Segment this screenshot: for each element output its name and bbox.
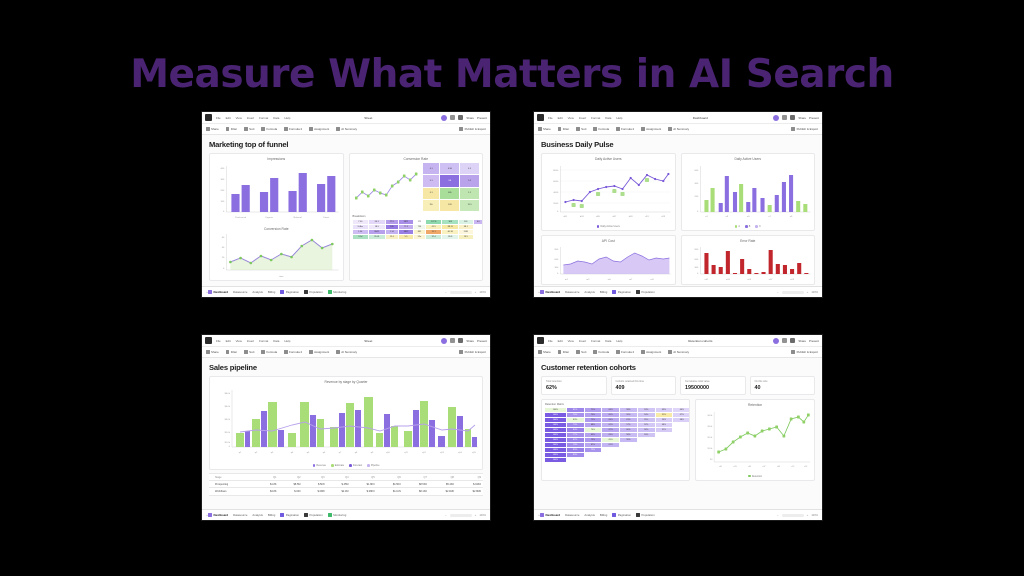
formula-icon — [593, 127, 597, 131]
table-row[interactable]: 4.1 0.30 4.5 — [422, 163, 479, 175]
card-error-rate[interactable]: Error Rate 900 600 300 0 — [681, 235, 816, 285]
assignment-icon — [309, 350, 313, 354]
menu-item-help[interactable]: Help — [616, 116, 622, 120]
tab-monitoring[interactable]: Monitoring — [328, 513, 347, 517]
avatar[interactable] — [441, 115, 447, 121]
tab-datasource[interactable]: Datasource — [233, 290, 247, 294]
cell: Prospecting — [209, 481, 255, 488]
menu-item-help[interactable]: Help — [284, 116, 290, 120]
cohort-cell — [566, 457, 584, 462]
col-q9: Q9 — [456, 474, 483, 481]
svg-text:600: 600 — [555, 259, 560, 261]
menu-item-view[interactable]: View — [568, 116, 574, 120]
filter-icon — [558, 350, 562, 354]
window-business-daily-pulse[interactable]: File Edit View Insert Format Data Help D… — [534, 112, 822, 297]
present-button[interactable]: Present — [477, 116, 487, 120]
menu-item-view[interactable]: View — [236, 116, 242, 120]
cell: Workflows — [209, 488, 255, 495]
ribbon-toolbar[interactable]: Share Filter Sort Formula Formula 2 Assi… — [534, 124, 822, 135]
cohort-cell — [620, 457, 638, 462]
legend-item[interactable]: Revenue — [313, 464, 326, 467]
presenter-icon[interactable] — [458, 115, 463, 120]
ribbon-filter[interactable]: Filter — [558, 350, 569, 354]
dashboard-icon — [208, 513, 212, 517]
tab-analysis-label: Analysis — [252, 290, 262, 294]
sparkle-icon — [336, 350, 340, 354]
svg-text:d01: d01 — [564, 216, 569, 218]
ribbon-formula-2[interactable]: Formula 2 — [616, 350, 634, 354]
heat-cell: 4.1 — [422, 163, 440, 175]
present-button[interactable]: Present — [809, 339, 819, 343]
ribbon-share-label: Share — [543, 350, 551, 354]
tab-monitoring[interactable]: Monitoring — [328, 290, 347, 294]
menu-bar[interactable]: File Edit View Insert Format Data Help D… — [534, 112, 822, 124]
tab-population[interactable]: Population — [636, 290, 655, 294]
table-row[interactable]: Workflows $4.8K $.000 $.0M8 $2.4M $.08K0… — [209, 488, 483, 495]
menu-item-insert[interactable]: Insert — [579, 339, 586, 343]
menu-item-help[interactable]: Help — [616, 339, 622, 343]
share-icon[interactable] — [450, 115, 455, 120]
share-icon[interactable] — [450, 338, 455, 343]
avatar[interactable] — [441, 338, 447, 344]
menu-bar-right[interactable]: Share Present — [773, 115, 819, 121]
menu-item-format[interactable]: Format — [259, 116, 268, 120]
tab-pagination[interactable]: Pagination — [280, 290, 299, 294]
zoom-in-icon[interactable]: + — [807, 513, 809, 517]
heat-cell: 5.5 — [460, 175, 480, 187]
svg-text:a1: a1 — [705, 216, 708, 218]
menu-item-data[interactable]: Data — [273, 339, 279, 343]
tab-billing[interactable]: Billing — [600, 513, 607, 517]
menu-item-edit[interactable]: Edit — [558, 116, 563, 120]
cohort-row: Retention Matrix 100%81%71%64%58%53%49%4… — [534, 399, 822, 481]
publish-export-button[interactable]: Publish & Export — [791, 350, 818, 354]
sheet-canvas: Sales pipeline Revenue by stage by Quart… — [202, 358, 490, 520]
ribbon-share[interactable]: Share — [206, 350, 219, 354]
filter-icon — [226, 127, 230, 131]
chart-revenue-combo[interactable]: $6.0k $4.0k $3.0k $2.0k $1.0k 0 — [210, 385, 482, 463]
zoom-out-icon[interactable]: − — [777, 513, 779, 517]
svg-text:600: 600 — [694, 259, 699, 261]
chart-impressions[interactable]: 400 300 200 100 0 Paid social — [210, 162, 343, 224]
ribbon-formula[interactable]: Formula — [261, 127, 277, 131]
ribbon-ai-summary[interactable]: AI Summary — [668, 350, 689, 354]
zoom-slider[interactable] — [450, 291, 472, 294]
formula-2-icon — [616, 127, 620, 131]
tab-pagination[interactable]: Pagination — [612, 513, 631, 517]
heat-cell: 9.1 — [422, 175, 440, 187]
svg-text:c03: c03 — [734, 465, 738, 467]
legend-item[interactable]: Estimate — [331, 464, 344, 467]
menu-bar-right[interactable]: Share Present — [773, 338, 819, 344]
ribbon-assignment[interactable]: Assignment — [641, 350, 661, 354]
menu-bar-right[interactable]: Share Present — [441, 338, 487, 344]
ribbon-formula-label: Formula — [598, 127, 609, 131]
status-bar-right[interactable]: − + 100% — [445, 290, 486, 294]
cell: $.08K0 — [350, 488, 376, 495]
avatar[interactable] — [773, 115, 779, 121]
legend-label: Retention — [752, 475, 762, 478]
publish-export-button[interactable]: Publish & Export — [791, 127, 818, 131]
col-q7: Q7 — [403, 474, 429, 481]
tab-dashboard[interactable]: Dashboard — [208, 513, 228, 517]
svg-text:q4: q4 — [291, 452, 294, 454]
tab-pagination[interactable]: Pagination — [280, 513, 299, 517]
table-cohort-heatmap[interactable]: 100%81%71%64%58%53%49%46%100%76%70%65%59… — [544, 407, 690, 463]
tab-analysis[interactable]: Analysis — [252, 513, 262, 517]
table-row[interactable]: Prospecting $1.8K $8.5M $.5K8 $.45M $1.8… — [209, 481, 483, 488]
population-icon — [304, 290, 308, 294]
tab-billing-label: Billing — [600, 290, 607, 294]
chart-conversion-mini[interactable]: 60 40 20 0 time — [210, 232, 343, 280]
col-q4: Q4 — [326, 474, 350, 481]
present-button[interactable]: Present — [477, 339, 487, 343]
ribbon-toolbar[interactable]: Share Filter Sort Formula Formula 2 Assi… — [202, 347, 490, 358]
svg-text:m9: m9 — [651, 279, 655, 281]
col-q1: Q1 — [255, 474, 278, 481]
menu-item-format[interactable]: Format — [591, 116, 600, 120]
svg-text:m3: m3 — [586, 279, 590, 281]
table-pipeline-summary[interactable]: Stage Q1 Q2 Q3 Q4 Q5 Q6 Q7 Q8 Q9 — [209, 473, 483, 496]
table-breakdown-heatmap[interactable]: 7.00 50.1 27.5 3871 171 127.8 308 101 6.… — [352, 219, 484, 240]
pagination-icon — [612, 290, 616, 294]
ribbon-share-label: Share — [211, 350, 219, 354]
card-title-conversion-rate: Conversion Rate — [350, 154, 483, 162]
window-customer-retention-cohorts[interactable]: File Edit View Insert Format Data Help R… — [534, 335, 822, 520]
ribbon-formula-2-label: Formula 2 — [621, 350, 634, 354]
menu-item-help[interactable]: Help — [284, 339, 290, 343]
card-daily-active-users-line[interactable]: Daily Active Users 8000 — [541, 153, 676, 231]
ribbon-assignment-label: Assignment — [646, 127, 661, 131]
zoom-in-icon[interactable]: + — [475, 513, 477, 517]
tab-population[interactable]: Population — [304, 513, 323, 517]
ribbon-ai-summary[interactable]: AI Summary — [336, 127, 357, 131]
legend-item[interactable]: Pipeline — [367, 464, 379, 467]
menu-item-file[interactable]: File — [548, 116, 553, 120]
table-row[interactable]: 4.1 605 1.1 — [422, 187, 479, 199]
share-button[interactable]: Share — [798, 116, 806, 120]
window-marketing-top-of-funnel[interactable]: File Edit View Insert Format Data Help S… — [202, 112, 490, 297]
ribbon-assignment[interactable]: Assignment — [641, 127, 661, 131]
sheet-tab-bar[interactable]: ‹ › Dashboard Datasource Analysis Billin… — [202, 286, 490, 297]
chart-dau-bars[interactable]: 600 400 200 0 — [682, 162, 815, 224]
chart-dau-line[interactable]: 8000 6000 4000 2000 0 — [542, 162, 675, 224]
share-button[interactable]: Share — [466, 116, 474, 120]
svg-text:300: 300 — [221, 179, 226, 181]
menu-item-edit[interactable]: Edit — [226, 116, 231, 120]
ribbon-filter[interactable]: Filter — [226, 127, 237, 131]
tab-billing-label: Billing — [600, 513, 607, 517]
svg-text:0: 0 — [223, 268, 225, 270]
svg-text:d05: d05 — [596, 216, 601, 218]
cell: $1.5K0 — [377, 481, 403, 488]
table-conversion-grid[interactable]: 4.1 0.30 4.5 9.1 88 5.5 4.1 — [422, 162, 480, 212]
ribbon-share[interactable]: Share — [538, 350, 551, 354]
kpi-value: 409 — [616, 385, 672, 391]
assignment-icon — [641, 127, 645, 131]
zoom-out-icon[interactable]: − — [445, 290, 447, 294]
menu-item-format[interactable]: Format — [591, 339, 600, 343]
kpi-card-total-retention[interactable]: Total retention 62% — [541, 376, 607, 395]
legend-item[interactable]: Daily Active Users — [597, 225, 620, 228]
zoom-in-icon[interactable]: + — [807, 290, 809, 294]
legend-label: Forecast — [353, 464, 362, 467]
share-button[interactable]: Share — [798, 339, 806, 343]
col-q8: Q8 — [429, 474, 456, 481]
ribbon-assignment[interactable]: Assignment — [309, 127, 329, 131]
tab-analysis[interactable]: Analysis — [584, 513, 594, 517]
table-row[interactable]: 3.1d 95.01 12.4 5.5 52a 32.4 89.8 13.5 — [352, 235, 483, 240]
ribbon-formula-2[interactable]: Formula 2 — [284, 350, 302, 354]
svg-text:e07: e07 — [768, 279, 773, 281]
svg-text:q3: q3 — [271, 452, 274, 454]
ribbon-sort[interactable]: Sort — [244, 127, 254, 131]
svg-text:e09: e09 — [790, 279, 795, 281]
publish-export-label: Publish & Export — [465, 350, 486, 354]
svg-text:$6.0k: $6.0k — [225, 393, 231, 395]
kpi-label: Total retention — [546, 380, 602, 383]
menu-item-insert[interactable]: Insert — [247, 339, 254, 343]
card-retention-matrix[interactable]: Retention Matrix 100%81%71%64%58%53%49%4… — [541, 399, 690, 481]
chevron-down-icon — [459, 350, 463, 354]
svg-text:8000: 8000 — [553, 170, 559, 172]
svg-text:0: 0 — [697, 273, 699, 275]
dashboard-title: Business Daily Pulse — [534, 135, 822, 153]
ribbon-toolbar[interactable]: Share Filter Sort Formula Formula 2 Assi… — [202, 124, 490, 135]
cell: $2.8M0 — [456, 488, 483, 495]
card-impressions[interactable]: Impressions 400 300 200 100 0 — [209, 153, 344, 281]
tab-analysis-label: Analysis — [252, 513, 262, 517]
menu-item-view[interactable]: View — [568, 339, 574, 343]
publish-export-button[interactable]: Publish & Export — [459, 350, 486, 354]
card-title-impressions: Impressions — [210, 154, 343, 162]
menu-item-edit[interactable]: Edit — [558, 339, 563, 343]
status-bar-right[interactable]: − + 100% — [777, 513, 818, 517]
zoom-out-icon[interactable]: − — [445, 513, 447, 517]
status-bar-right[interactable]: − + 100% — [445, 513, 486, 517]
svg-text:900: 900 — [694, 249, 699, 251]
presenter-icon[interactable] — [790, 115, 795, 120]
ribbon-sort[interactable]: Sort — [244, 350, 254, 354]
table-row[interactable]: 9.1 88 5.5 — [422, 175, 479, 187]
menu-item-file[interactable]: File — [216, 339, 221, 343]
svg-text:$3.0k: $3.0k — [708, 425, 714, 427]
ribbon-share-label: Share — [211, 127, 219, 131]
zoom-slider[interactable] — [782, 291, 804, 294]
menu-bar[interactable]: File Edit View Insert Format Data Help S… — [202, 112, 490, 124]
chevron-down-icon — [791, 350, 795, 354]
legend-item[interactable]: B — [745, 225, 750, 228]
charts-row-2: API Cost 900 600 300 0 m1m3 — [534, 235, 822, 285]
ribbon-formula[interactable]: Formula — [593, 127, 609, 131]
ribbon-ai-summary-label: AI Summary — [673, 127, 689, 131]
tab-datasource[interactable]: Datasource — [565, 513, 579, 517]
ribbon-sort-label: Sort — [581, 350, 586, 354]
zoom-in-icon[interactable]: + — [475, 290, 477, 294]
filter-icon — [226, 350, 230, 354]
share-button[interactable]: Share — [466, 339, 474, 343]
sheet-tab-bar[interactable]: ‹ › Dashboard Datasource Analysis Billin… — [202, 509, 490, 520]
tab-analysis[interactable]: Analysis — [252, 290, 262, 294]
svg-text:q7: q7 — [339, 452, 342, 454]
zoom-slider[interactable] — [782, 514, 804, 517]
menu-item-edit[interactable]: Edit — [226, 339, 231, 343]
sheet-tab-bar[interactable]: ‹ › Dashboard Datasource Analysis Billin… — [534, 509, 822, 520]
kpi-card-cumulative-value[interactable]: Cumulative total value 19500000 — [680, 376, 746, 395]
chart-api-cost-area[interactable]: 900 600 300 0 m1m3 m5m7 m9 — [542, 244, 675, 284]
formula-2-icon — [284, 127, 288, 131]
tab-analysis[interactable]: Analysis — [584, 290, 594, 294]
menu-item-insert[interactable]: Insert — [579, 116, 586, 120]
tab-datasource[interactable]: Datasource — [233, 513, 247, 517]
legend-dau-bars: A B C — [682, 224, 815, 230]
status-bar-right[interactable]: − + 100% — [777, 290, 818, 294]
share-icon[interactable] — [782, 115, 787, 120]
menu-bar[interactable]: File Edit View Insert Format Data Help R… — [534, 335, 822, 347]
legend-label: Pipeline — [371, 464, 380, 467]
tab-population[interactable]: Population — [304, 290, 323, 294]
legend-item[interactable]: Retention — [748, 475, 762, 478]
svg-text:a3: a3 — [725, 216, 728, 218]
kpi-label: Cohorts retained this time — [616, 380, 672, 383]
document-title: Dashboard — [627, 116, 773, 120]
menu-bar-right[interactable]: Share Present — [441, 115, 487, 121]
ribbon-ai-summary[interactable]: AI Summary — [668, 127, 689, 131]
ribbon-filter[interactable]: Filter — [558, 127, 569, 131]
present-button[interactable]: Present — [809, 116, 819, 120]
presenter-icon[interactable] — [458, 338, 463, 343]
menu-item-data[interactable]: Data — [273, 116, 279, 120]
ribbon-share[interactable]: Share — [206, 127, 219, 131]
tab-datasource[interactable]: Datasource — [565, 290, 579, 294]
avatar[interactable] — [773, 338, 779, 344]
table-row[interactable]: 100% — [545, 457, 691, 462]
cell: $1.0cN — [377, 488, 403, 495]
pagination-icon — [280, 513, 284, 517]
tab-dashboard[interactable]: Dashboard — [540, 290, 560, 294]
tab-billing[interactable]: Billing — [268, 290, 275, 294]
menu-item-file[interactable]: File — [216, 116, 221, 120]
kpi-label: On this size — [755, 380, 811, 383]
zoom-out-icon[interactable]: − — [777, 290, 779, 294]
window-sales-pipeline[interactable]: File Edit View Insert Format Data Help S… — [202, 335, 490, 520]
cell: $.000 — [279, 488, 303, 495]
tab-monitoring-label: Monitoring — [333, 290, 346, 294]
menu-item-data[interactable]: Data — [605, 339, 611, 343]
charts-row-1: Impressions 400 300 200 100 0 — [202, 153, 490, 281]
legend-item[interactable]: Forecast — [349, 464, 362, 467]
heat-cell: 5.5 — [399, 235, 414, 240]
svg-text:q5: q5 — [307, 452, 310, 454]
ribbon-formula-2-label: Formula 2 — [289, 127, 302, 131]
ribbon-formula-2[interactable]: Formula 2 — [616, 127, 634, 131]
ribbon-share[interactable]: Share — [538, 127, 551, 131]
legend-dau-line: Daily Active Users — [542, 224, 675, 230]
chevron-down-icon — [459, 127, 463, 131]
card-title-retention-matrix: Retention Matrix — [542, 400, 689, 407]
tab-billing[interactable]: Billing — [600, 290, 607, 294]
menu-bar[interactable]: File Edit View Insert Format Data Help S… — [202, 335, 490, 347]
card-daily-active-users-bars[interactable]: Daily Active Users 600 400 200 0 — [681, 153, 816, 231]
dashboard-title: Sales pipeline — [202, 358, 490, 376]
chart-retention-line[interactable]: $4.0k $3.0k $2.0k $1.0k $0 — [696, 408, 814, 474]
ribbon-formula-2[interactable]: Formula 2 — [284, 127, 302, 131]
ribbon-assignment[interactable]: Assignment — [309, 350, 329, 354]
menu-item-view[interactable]: View — [236, 339, 242, 343]
sheet-tab-bar[interactable]: ‹ › Dashboard Datasource Analysis Billin… — [534, 286, 822, 297]
ribbon-sort[interactable]: Sort — [576, 127, 586, 131]
tab-pagination[interactable]: Pagination — [612, 290, 631, 294]
card-api-cost[interactable]: API Cost 900 600 300 0 m1m3 — [541, 235, 676, 285]
card-revenue-by-stage[interactable]: Revenue by stage by Quarter $6.0k $4.0k … — [209, 376, 483, 470]
ribbon-ai-summary[interactable]: AI Summary — [336, 350, 357, 354]
svg-text:q15: q15 — [472, 452, 476, 454]
heat-cell: 32.4 — [425, 235, 442, 240]
ribbon-formula-label: Formula — [598, 350, 609, 354]
legend-item[interactable]: A — [735, 225, 740, 228]
tab-billing[interactable]: Billing — [268, 513, 275, 517]
publish-export-label: Publish & Export — [797, 350, 818, 354]
chart-error-rate-bars[interactable]: 900 600 300 0 — [682, 244, 815, 284]
app-logo-icon — [537, 114, 544, 121]
cell: $.5K8 — [303, 481, 327, 488]
kpi-card-on-this-size[interactable]: On this size 40 — [750, 376, 816, 395]
ribbon-sort-label: Sort — [581, 127, 586, 131]
ribbon-sort[interactable]: Sort — [576, 350, 586, 354]
svg-text:a7: a7 — [768, 216, 771, 218]
ribbon-formula[interactable]: Formula — [593, 350, 609, 354]
tab-population[interactable]: Population — [636, 513, 655, 517]
ribbon-formula[interactable]: Formula — [261, 350, 277, 354]
cohort-cell — [584, 457, 602, 462]
ribbon-toolbar[interactable]: Share Filter Sort Formula Formula 2 Assi… — [534, 347, 822, 358]
population-icon — [636, 290, 640, 294]
card-retention-line[interactable]: Retention $4.0k $3.0k $2.0k $1.0k $0 — [695, 399, 815, 481]
heat-cell: 4.5 — [460, 163, 480, 175]
tab-dashboard[interactable]: Dashboard — [208, 290, 228, 294]
publish-export-button[interactable]: Publish & Export — [459, 127, 486, 131]
formula-icon — [261, 127, 265, 131]
menu-item-file[interactable]: File — [548, 339, 553, 343]
heat-cell: 15L — [422, 199, 440, 211]
menu-item-format[interactable]: Format — [259, 339, 268, 343]
ribbon-filter[interactable]: Filter — [226, 350, 237, 354]
menu-item-data[interactable]: Data — [605, 116, 611, 120]
sort-icon — [576, 350, 580, 354]
menu-item-insert[interactable]: Insert — [247, 116, 254, 120]
chart-conversion-line[interactable] — [352, 162, 420, 212]
tab-dashboard-label: Dashboard — [546, 290, 561, 294]
legend-item[interactable]: C — [755, 225, 761, 228]
share-icon[interactable] — [782, 338, 787, 343]
card-title-dau-bars: Daily Active Users — [682, 154, 815, 162]
card-conversion-rate[interactable]: Conversion Rate — [349, 153, 484, 281]
tab-dashboard[interactable]: Dashboard — [540, 513, 560, 517]
svg-text:q2: q2 — [255, 452, 258, 454]
svg-text:40: 40 — [222, 247, 225, 249]
ribbon-filter-label: Filter — [563, 127, 569, 131]
population-icon — [636, 513, 640, 517]
ribbon-formula-label: Formula — [266, 127, 277, 131]
svg-text:c01: c01 — [719, 465, 723, 467]
table-row[interactable]: 15L 103 15.5 — [422, 199, 479, 211]
tab-population-label: Population — [642, 290, 655, 294]
zoom-slider[interactable] — [450, 514, 472, 517]
presenter-icon[interactable] — [790, 338, 795, 343]
svg-text:Paid social: Paid social — [235, 217, 246, 219]
kpi-card-cohorts-retained[interactable]: Cohorts retained this time 409 — [611, 376, 677, 395]
tab-population-label: Population — [310, 513, 323, 517]
